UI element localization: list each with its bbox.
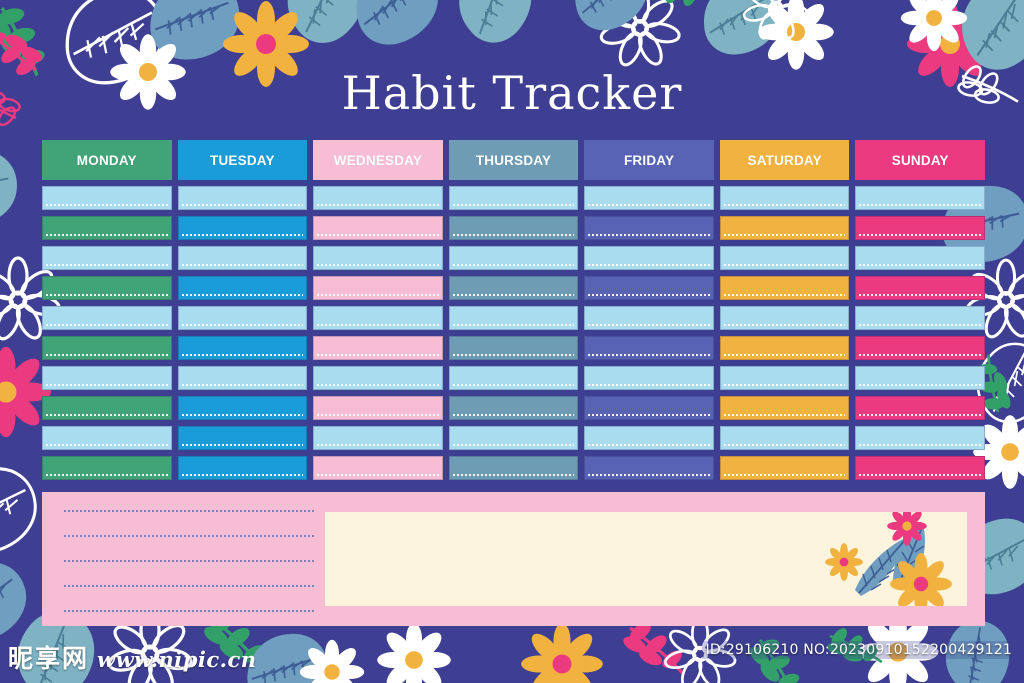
habit-cell[interactable]: [855, 216, 985, 240]
habit-cell[interactable]: [178, 396, 308, 420]
habit-cell[interactable]: [584, 216, 714, 240]
habit-cell[interactable]: [855, 336, 985, 360]
habit-cell[interactable]: [584, 306, 714, 330]
habit-cell[interactable]: [584, 276, 714, 300]
page-title: Habit Tracker: [0, 66, 1024, 120]
habit-cell[interactable]: [449, 186, 579, 210]
habit-cell[interactable]: [42, 186, 172, 210]
weekly-habit-grid: MONDAYTUESDAYWEDNESDAYTHURSDAYFRIDAYSATU…: [42, 140, 985, 480]
habit-cell[interactable]: [449, 366, 579, 390]
habit-cell[interactable]: [178, 306, 308, 330]
habit-cell[interactable]: [449, 246, 579, 270]
day-header-sunday[interactable]: SUNDAY: [855, 140, 985, 180]
habit-tracker-poster: Habit Tracker MONDAYTUESDAYWEDNESDAYTHUR…: [0, 0, 1024, 683]
habit-cell[interactable]: [855, 246, 985, 270]
habit-cell[interactable]: [313, 246, 443, 270]
habit-cell[interactable]: [178, 366, 308, 390]
habit-cell[interactable]: [449, 276, 579, 300]
habit-cell[interactable]: [720, 216, 850, 240]
habit-cell[interactable]: [720, 276, 850, 300]
habit-cell[interactable]: [720, 456, 850, 480]
habit-cell[interactable]: [584, 186, 714, 210]
habit-cell[interactable]: [584, 366, 714, 390]
habit-cell[interactable]: [313, 276, 443, 300]
asset-id-watermark: ID:29106210 NO:20230910152200429121: [702, 641, 1016, 659]
habit-cell[interactable]: [42, 246, 172, 270]
habit-cell[interactable]: [178, 336, 308, 360]
habit-cell[interactable]: [313, 396, 443, 420]
notes-writing-lines[interactable]: [64, 510, 326, 614]
notes-panel: [42, 492, 985, 626]
habit-cell[interactable]: [584, 426, 714, 450]
habit-cell[interactable]: [178, 246, 308, 270]
habit-cell[interactable]: [720, 306, 850, 330]
habit-cell[interactable]: [449, 396, 579, 420]
day-column-sunday: SUNDAY: [855, 140, 985, 480]
note-line[interactable]: [64, 610, 314, 612]
day-header-tuesday[interactable]: TUESDAY: [178, 140, 308, 180]
habit-cell[interactable]: [720, 426, 850, 450]
habit-cell[interactable]: [584, 396, 714, 420]
habit-cell[interactable]: [855, 186, 985, 210]
day-column-thursday: THURSDAY: [449, 140, 579, 480]
habit-cell[interactable]: [42, 426, 172, 450]
day-header-saturday[interactable]: SATURDAY: [720, 140, 850, 180]
site-url-text: www.nipic.cn: [97, 647, 257, 672]
habit-cell[interactable]: [42, 336, 172, 360]
habit-cell[interactable]: [313, 336, 443, 360]
habit-cell[interactable]: [42, 276, 172, 300]
habit-cell[interactable]: [178, 276, 308, 300]
habit-cell[interactable]: [178, 186, 308, 210]
habit-cell[interactable]: [42, 366, 172, 390]
habit-cell[interactable]: [720, 336, 850, 360]
note-line[interactable]: [64, 535, 314, 537]
habit-cell[interactable]: [720, 186, 850, 210]
day-header-thursday[interactable]: THURSDAY: [449, 140, 579, 180]
habit-cell[interactable]: [42, 306, 172, 330]
day-column-tuesday: TUESDAY: [178, 140, 308, 480]
habit-cell[interactable]: [720, 246, 850, 270]
day-header-wednesday[interactable]: WEDNESDAY: [313, 140, 443, 180]
habit-cell[interactable]: [178, 456, 308, 480]
habit-cell[interactable]: [855, 456, 985, 480]
habit-cell[interactable]: [855, 426, 985, 450]
habit-cell[interactable]: [855, 276, 985, 300]
habit-cell[interactable]: [855, 366, 985, 390]
habit-cell[interactable]: [449, 336, 579, 360]
habit-cell[interactable]: [313, 366, 443, 390]
habit-cell[interactable]: [42, 216, 172, 240]
day-header-monday[interactable]: MONDAY: [42, 140, 172, 180]
habit-cell[interactable]: [449, 216, 579, 240]
habit-cell[interactable]: [178, 426, 308, 450]
day-column-friday: FRIDAY: [584, 140, 714, 480]
habit-cell[interactable]: [720, 366, 850, 390]
notes-cream-box[interactable]: [325, 512, 967, 606]
habit-cell[interactable]: [449, 456, 579, 480]
habit-cell[interactable]: [313, 306, 443, 330]
habit-cell[interactable]: [720, 396, 850, 420]
day-header-friday[interactable]: FRIDAY: [584, 140, 714, 180]
habit-cell[interactable]: [584, 246, 714, 270]
habit-cell[interactable]: [313, 216, 443, 240]
habit-cell[interactable]: [313, 456, 443, 480]
note-line[interactable]: [64, 510, 314, 512]
note-line[interactable]: [64, 585, 314, 587]
day-column-wednesday: WEDNESDAY: [313, 140, 443, 480]
habit-cell[interactable]: [855, 306, 985, 330]
site-logo-text: 昵享网: [8, 639, 89, 675]
day-column-saturday: SATURDAY: [720, 140, 850, 480]
habit-cell[interactable]: [855, 396, 985, 420]
habit-cell[interactable]: [449, 426, 579, 450]
day-column-monday: MONDAY: [42, 140, 172, 480]
habit-cell[interactable]: [42, 396, 172, 420]
habit-cell[interactable]: [584, 456, 714, 480]
habit-cell[interactable]: [313, 426, 443, 450]
cream-box-floral-icon: [797, 512, 967, 606]
habit-cell[interactable]: [42, 456, 172, 480]
note-line[interactable]: [64, 560, 314, 562]
site-watermark: 昵享网 www.nipic.cn: [8, 639, 257, 675]
habit-cell[interactable]: [449, 306, 579, 330]
habit-cell[interactable]: [178, 216, 308, 240]
habit-cell[interactable]: [584, 336, 714, 360]
habit-cell[interactable]: [313, 186, 443, 210]
